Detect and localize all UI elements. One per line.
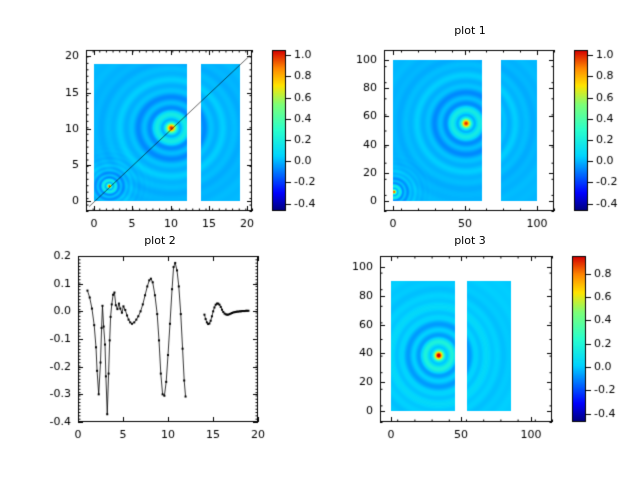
panel-bottom-left-title: plot 2	[0, 234, 320, 247]
panel-top-right[interactable]: plot 1	[320, 0, 640, 240]
panel-bottom-right-title: plot 3	[320, 234, 620, 247]
panel-bottom-left-plot-area[interactable]	[0, 240, 320, 480]
panel-top-left[interactable]	[0, 0, 320, 240]
panel-bottom-right[interactable]: plot 3	[320, 240, 640, 480]
figure-canvas: plot 1 plot 2 plot 3	[0, 0, 640, 480]
panel-top-right-title: plot 1	[320, 24, 620, 37]
panel-top-left-plot-area[interactable]	[0, 0, 320, 240]
panel-bottom-left[interactable]: plot 2	[0, 240, 320, 480]
panel-bottom-right-plot-area[interactable]	[320, 240, 640, 480]
